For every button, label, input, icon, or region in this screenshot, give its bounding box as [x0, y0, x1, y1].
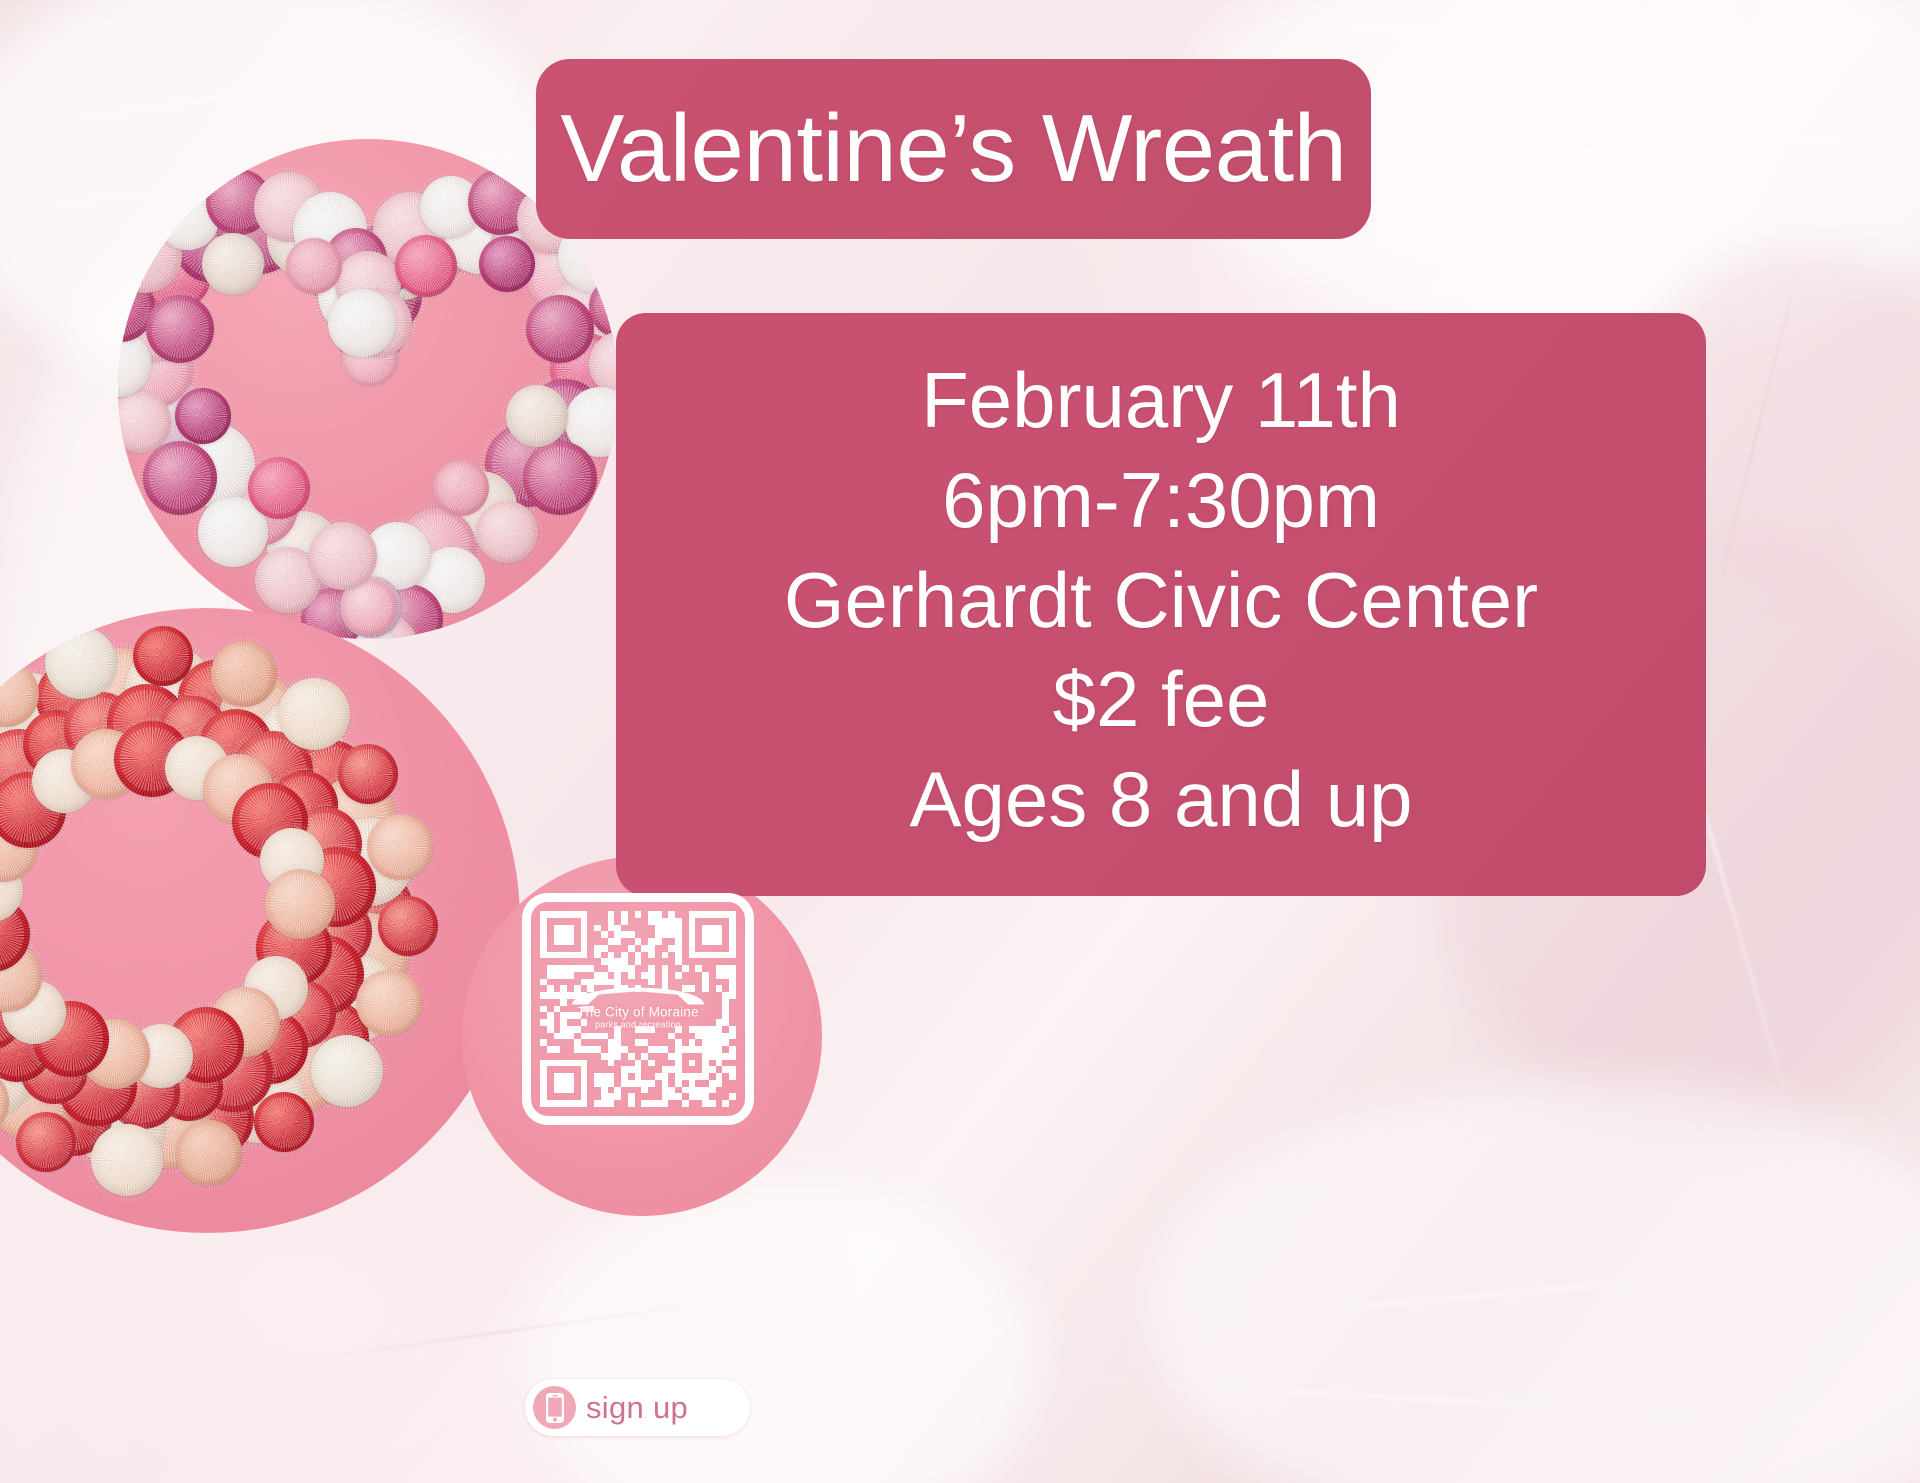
title-banner: Valentine’s Wreath [536, 59, 1371, 239]
signup-button[interactable]: sign up [525, 1379, 750, 1436]
background-streak-4 [1241, 18, 1860, 64]
pompom [176, 1120, 242, 1186]
pompom [338, 744, 398, 804]
pompom [45, 627, 117, 699]
pompom [356, 970, 422, 1036]
detail-line-ages: Ages 8 and up [909, 750, 1412, 850]
detail-line-time: 6pm-7:30pm [942, 451, 1380, 551]
pompom [506, 385, 568, 447]
qr-code-icon [531, 902, 745, 1116]
detail-line-date: February 11th [921, 351, 1401, 451]
pompom [91, 1124, 163, 1196]
pompom [523, 441, 597, 515]
pompom [378, 896, 438, 956]
pompom [311, 1035, 383, 1107]
background-brush-4 [1150, 1080, 1920, 1483]
pompom [16, 1112, 76, 1172]
pompom [328, 289, 396, 357]
pompom [526, 295, 594, 363]
wreath-round-photo [0, 608, 520, 1233]
background-streak-1 [23, 53, 488, 129]
detail-line-fee: $2 fee [1053, 650, 1270, 750]
background-streak-9 [1080, 1380, 1859, 1424]
detail-line-location: Gerhardt Civic Center [784, 551, 1538, 651]
pompom [479, 236, 535, 292]
pompom [133, 626, 193, 686]
background-streak-11 [1711, 227, 1810, 616]
round-wreath-pompoms [0, 608, 520, 1233]
pompom [146, 295, 214, 363]
background-streak-5 [1300, 134, 1899, 168]
pompom [0, 661, 39, 727]
pompom [265, 869, 335, 939]
flyer-canvas: Valentine’s Wreath February 11th 6pm-7:3… [0, 0, 1920, 1483]
background-streak-12 [302, 1301, 718, 1361]
pompom [254, 1092, 314, 1152]
pompom [367, 814, 433, 880]
pompom [202, 233, 264, 295]
pompom [278, 678, 350, 750]
pompom [433, 460, 489, 516]
pompom [286, 238, 342, 294]
background-brush-5 [520, 1180, 1040, 1483]
pompom [309, 522, 377, 590]
background-streak-8 [1181, 1260, 1879, 1324]
pompom [476, 501, 538, 563]
event-details-panel: February 11th 6pm-7:30pm Gerhardt Civic … [616, 313, 1706, 896]
pompom [211, 641, 277, 707]
pompom [248, 457, 310, 519]
pompom [395, 235, 457, 297]
pompom [175, 388, 231, 444]
signup-label: sign up [586, 1392, 688, 1423]
page-title: Valentine’s Wreath [560, 101, 1346, 197]
mobile-phone-icon [533, 1386, 576, 1429]
qr-code[interactable]: The City of Moraine parks and recreation [522, 893, 754, 1125]
